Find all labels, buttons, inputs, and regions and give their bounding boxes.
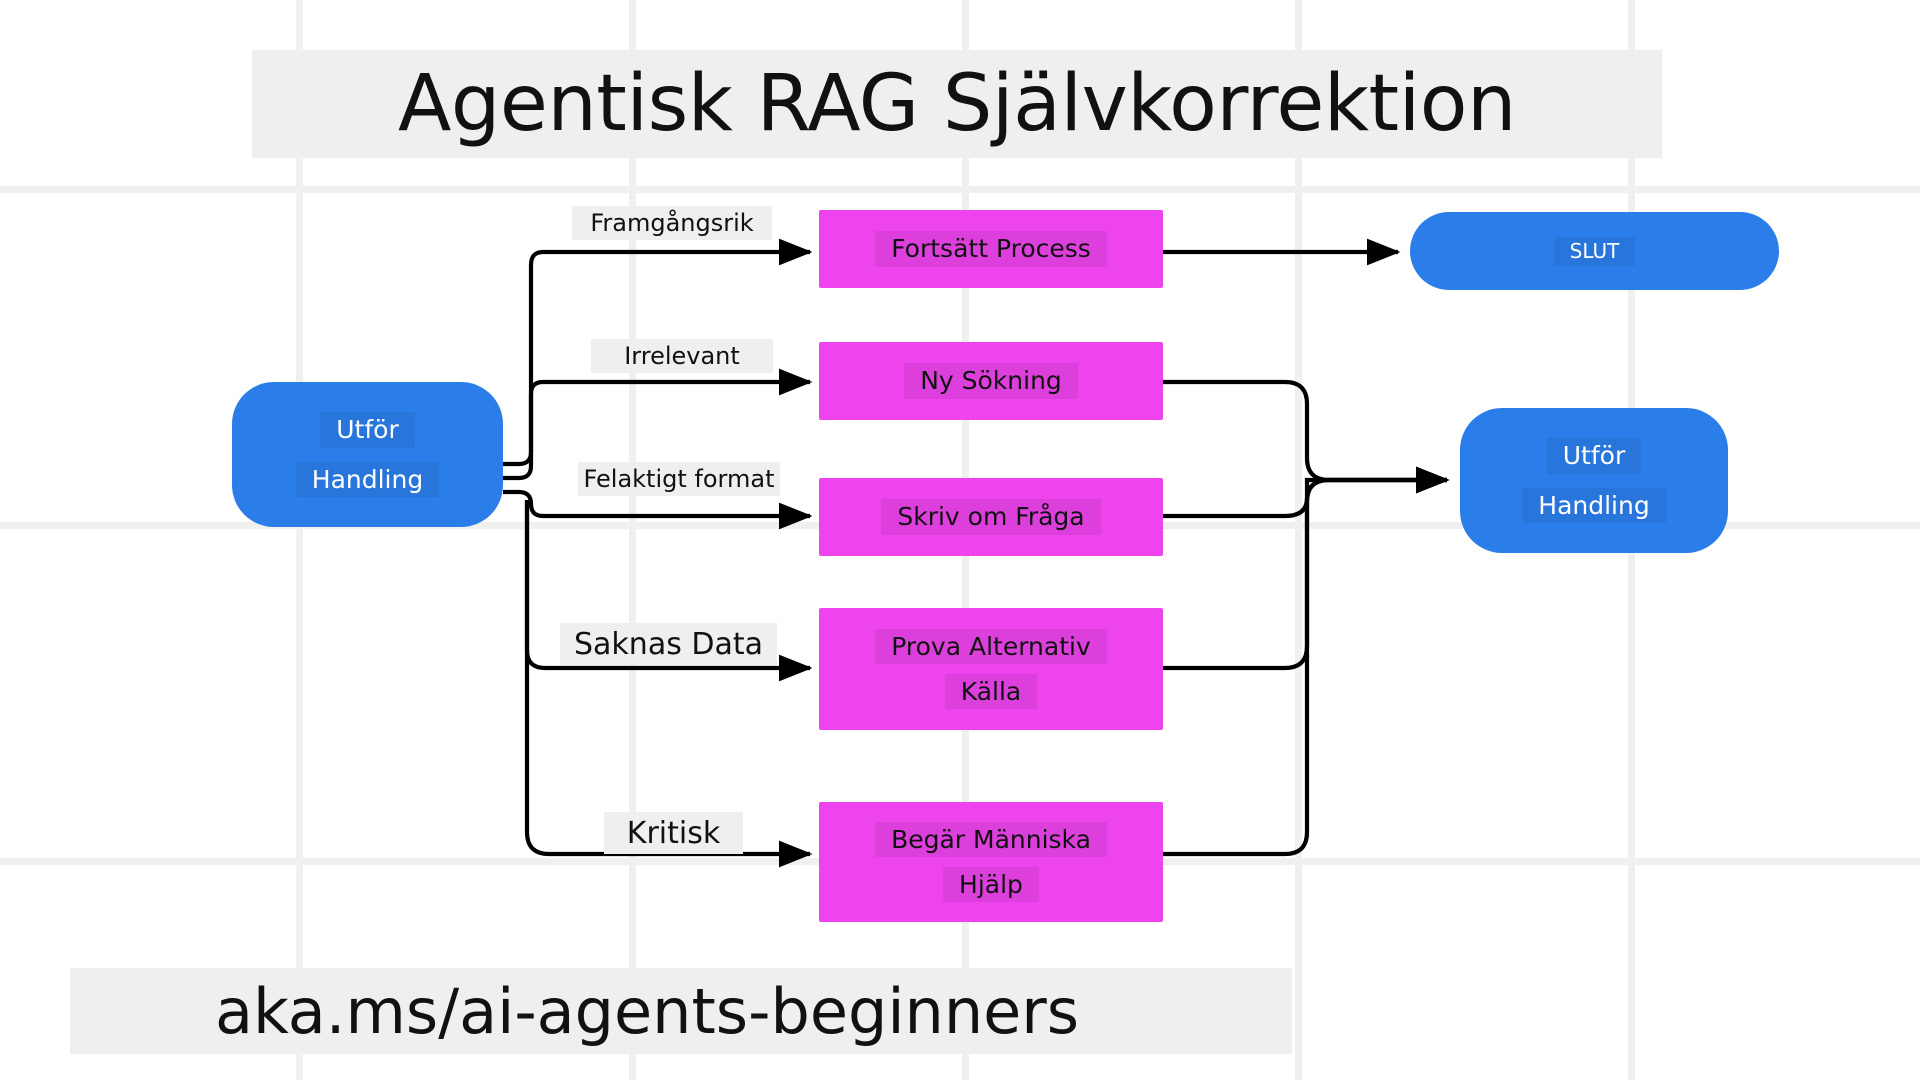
node-try-alternative-source-line1: Prova Alternativ: [875, 629, 1107, 664]
edge-human-help-to-loop: [1163, 480, 1447, 854]
node-start-line2: Handling: [296, 462, 439, 497]
diagram-canvas: Agentisk RAG Självkorrektion Utför Handl…: [0, 0, 1920, 1080]
grid-line-vertical: [1295, 0, 1302, 1080]
footer-url: aka.ms/ai-agents-beginners: [70, 968, 1292, 1054]
node-request-human-help[interactable]: Begär Människa Hjälp: [819, 802, 1163, 922]
edge-label-irrelevant: Irrelevant: [591, 339, 773, 373]
node-new-search-label: Ny Sökning: [904, 363, 1078, 398]
grid-line-horizontal: [0, 186, 1920, 193]
node-start-action[interactable]: Utför Handling: [232, 382, 503, 527]
node-continue-process[interactable]: Fortsätt Process: [819, 210, 1163, 288]
node-try-alternative-source-line2: Källa: [945, 674, 1038, 709]
edge-alternative-to-loop: [1163, 480, 1447, 668]
node-rewrite-query[interactable]: Skriv om Fråga: [819, 478, 1163, 556]
node-loop-back-line1: Utför: [1547, 438, 1641, 473]
page-title-text: Agentisk RAG Självkorrektion: [398, 59, 1516, 149]
node-end-label: SLUT: [1554, 237, 1636, 266]
node-new-search[interactable]: Ny Sökning: [819, 342, 1163, 420]
node-rewrite-query-label: Skriv om Fråga: [881, 499, 1100, 534]
edge-label-successful: Framgångsrik: [572, 206, 772, 240]
node-request-human-help-line1: Begär Människa: [875, 822, 1107, 857]
edge-label-missing-data: Saknas Data: [560, 623, 777, 665]
node-start-line1: Utför: [320, 412, 414, 447]
node-loop-back-action[interactable]: Utför Handling: [1460, 408, 1728, 553]
node-try-alternative-source[interactable]: Prova Alternativ Källa: [819, 608, 1163, 730]
grid-line-vertical: [296, 0, 303, 1080]
node-loop-back-line2: Handling: [1522, 488, 1665, 523]
node-continue-process-label: Fortsätt Process: [875, 231, 1107, 266]
edge-label-bad-format: Felaktigt format: [578, 462, 780, 496]
edge-rewrite-to-loop: [1163, 480, 1447, 516]
node-request-human-help-line2: Hjälp: [943, 867, 1039, 902]
edge-start-to-new-search: [503, 382, 810, 464]
grid-line-vertical: [629, 0, 636, 1080]
page-title: Agentisk RAG Självkorrektion: [252, 50, 1662, 158]
edge-start-to-human-help: [527, 500, 810, 854]
footer-url-text: aka.ms/ai-agents-beginners: [215, 975, 1079, 1048]
node-end[interactable]: SLUT: [1410, 212, 1779, 290]
edge-label-critical: Kritisk: [604, 812, 743, 854]
edge-new-search-to-loop: [1163, 382, 1447, 480]
